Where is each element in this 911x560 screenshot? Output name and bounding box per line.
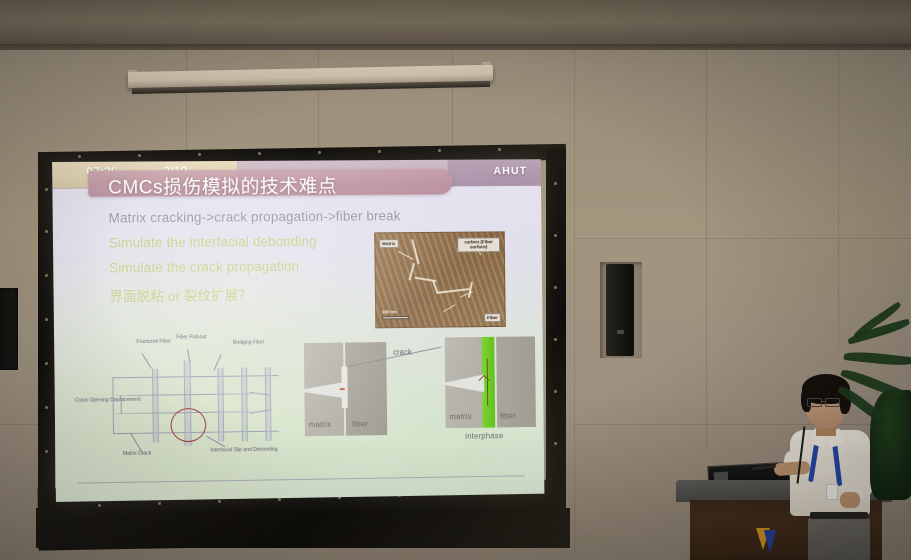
presenter-trousers [808,517,870,560]
schematic-crack-with-interphase: matrix fiber interphase [441,332,545,454]
wall-seam [318,50,319,158]
matrix-left-edge [112,377,114,433]
slide-bullet-3: Simulate the crack propagation [109,259,299,276]
glasses-bridge [822,401,826,402]
frame-stud [158,502,161,505]
frame-stud [554,390,557,393]
frame-stud [45,318,48,321]
sem-crack-segment [408,263,414,281]
screen-frame-right [546,148,566,508]
frame-stud [45,450,48,453]
sem-label-carbon: carbon (Fiber surface) [457,237,500,252]
label-matrix-mid: matrix [309,420,332,429]
sem-crack-segment [411,239,419,264]
frame-stud [45,362,48,365]
schematic-fiber-bridging: Fractured Fiber Fiber Pull-out Bridging … [90,331,290,473]
wall-seam [838,50,839,350]
crack-wedge [439,374,484,392]
frame-stud [378,150,381,153]
label-matrix-crack: Matrix Crack [117,450,157,457]
sem-crack-segment [436,288,469,293]
frame-stud [138,154,141,157]
sem-label-matrix: Matrix [379,239,398,248]
sem-label-fiber: Fiber [484,313,501,322]
fiber-bridging [217,368,224,442]
sem-scale-bar [382,316,409,319]
potted-palm [840,330,911,480]
label-fractured-fiber: Fractured Fiber [132,339,176,346]
presenter-left-hand [840,492,860,508]
fiber [241,368,248,442]
slide-bullet-4: 界面脱粘 or 裂纹扩展？ [109,284,252,305]
frame-stud [258,152,261,155]
label-matrix-right: matrix [449,412,471,421]
podium-logo-blue-shape [764,530,776,554]
label-crack-opening-displacement: Crack Opening Displacement [75,397,127,405]
frame-stud [438,149,441,152]
wall-seam [706,50,707,450]
palm-frond [843,350,911,367]
frame-stud [554,442,557,445]
frame-stud [554,338,557,341]
frame-stud [318,151,321,154]
highlight-circle-interfacial-slip [170,408,206,442]
ceiling [0,0,911,48]
frame-stud [554,182,557,185]
sem-arrow [460,291,473,298]
slide-bullet-2: Simulate the interfacial debonding [109,234,317,251]
sem-arrow [443,304,455,312]
presenter-belt [810,512,868,519]
frame-stud [45,230,48,233]
slide-bullet-1: Matrix cracking->crack propagation->fibe… [108,208,400,225]
fiber [265,367,272,441]
frame-stud [198,153,201,156]
presenter-right-forearm [774,461,811,476]
frame-stud [78,155,81,158]
crack-tip [340,388,345,390]
wall-seam [186,50,187,158]
frame-stud [45,406,48,409]
sem-micrograph-inset: Matrix carbon (Fiber surface) Fiber 100 … [374,231,506,328]
leader-line [142,353,152,369]
label-fiber-right: fiber [500,411,516,420]
crack-wedge [294,382,343,399]
fiber-fractured [152,369,159,443]
screen-skirt [36,508,570,548]
frame-stud [218,500,221,503]
label-crack-callout: crack [393,348,412,357]
label-fiber-pullout: Fiber Pull-out [171,334,211,341]
wall-seam [0,424,40,425]
sem-crack-segment [468,282,472,298]
sem-arrow [398,251,414,260]
ahut-logo-text: AHUT [493,165,527,177]
label-fiber-mid: fiber [352,419,368,428]
wall-seam [574,50,575,550]
frame-stud [498,148,501,151]
frame-stud [45,274,48,277]
conference-room-photo: 07:36 Time 3/19 Page AHUT CMCs损伤模拟的技术难点 … [0,0,911,560]
palm-foliage-mass [870,390,911,500]
frame-stud [45,188,48,191]
glasses-left-lens [807,398,822,407]
frame-stud [554,286,557,289]
label-interphase: interphase [465,431,503,440]
ceiling-edge [0,44,911,50]
projected-slide: 07:36 Time 3/19 Page AHUT CMCs损伤模拟的技术难点 … [52,159,544,502]
left-wall-recess [0,288,18,370]
label-interfacial-slip-debonding: Interfacial Slip and Debonding [210,447,273,455]
slide-title: CMCs损伤模拟的技术难点 [108,171,462,200]
wall-speaker [606,264,634,356]
frame-stud [278,498,281,501]
name-badge [826,484,838,500]
glasses-right-lens [825,398,840,407]
wall-seam [574,238,911,239]
speaker-led [617,330,624,334]
frame-stud [98,504,101,507]
frame-stud [554,234,557,237]
matrix-top-edge [112,375,278,378]
label-bridging-fiber: Bridging Fiber [221,339,276,346]
sem-scale-label: 100 nm [380,308,399,315]
